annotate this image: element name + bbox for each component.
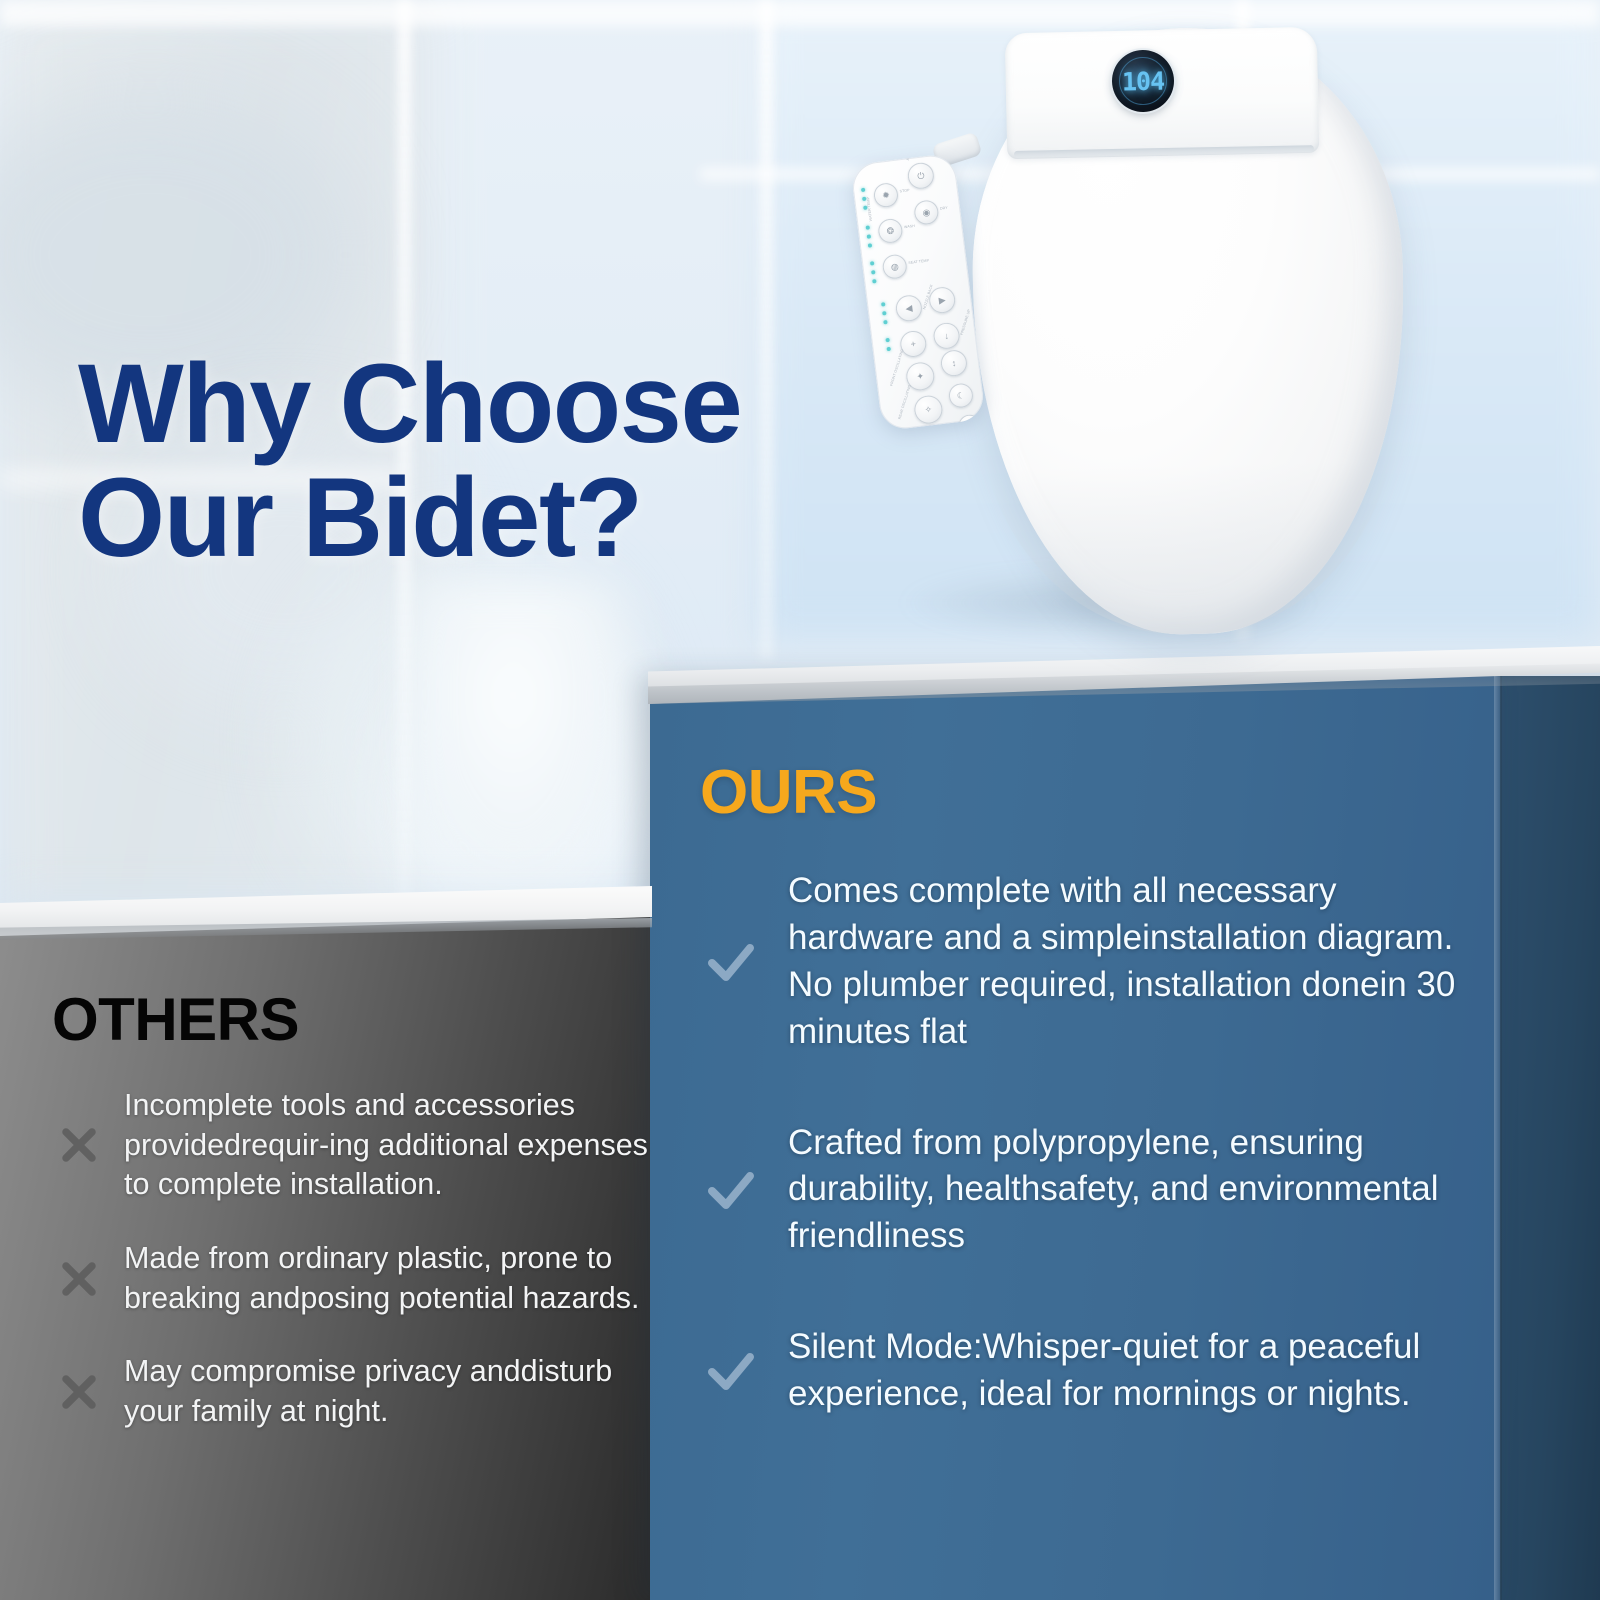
arrow-left-icon: ◀ xyxy=(894,294,923,323)
dry-icon: ◉ xyxy=(913,199,940,226)
panel-led xyxy=(861,188,865,192)
panel-led xyxy=(881,302,885,306)
power-label: POWER xyxy=(906,153,915,161)
panel-led xyxy=(872,279,876,283)
pressure-up-button[interactable]: + xyxy=(899,329,928,358)
others-item-text: May compromise privacy anddisturb your f… xyxy=(124,1352,652,1431)
check-icon xyxy=(700,931,762,993)
panel-led xyxy=(882,311,886,315)
x-icon xyxy=(52,1365,106,1419)
others-item-text: Made from ordinary plastic, prone to bre… xyxy=(124,1239,652,1318)
panel-led xyxy=(870,261,874,265)
others-item-text: Incomplete tools and accessories provide… xyxy=(124,1086,652,1205)
others-heading: OTHERS xyxy=(52,990,652,1050)
ours-heading: OURS xyxy=(700,762,1460,824)
ours-pedestal-side-face xyxy=(1500,676,1600,1600)
ours-item-text: Silent Mode:Whisper-quiet for a peaceful… xyxy=(788,1324,1460,1418)
power-icon: ⏻ xyxy=(906,161,935,190)
plus-icon: + xyxy=(899,329,928,358)
night-light-icon: ☾ xyxy=(948,382,975,409)
bidet-control-panel[interactable]: ✹ STOP ⏻ POWER ❂ WASH ◉ DRY ◍ SEAT TEMP … xyxy=(850,153,986,432)
check-icon xyxy=(700,1159,762,1221)
night-light-button[interactable]: ☾ xyxy=(948,382,975,409)
ours-item-text: Comes complete with all necessary hardwa… xyxy=(788,868,1460,1056)
uv-icon: ■ xyxy=(957,413,982,431)
panel-led xyxy=(885,338,889,342)
nozzle-back-button[interactable]: ◀ xyxy=(894,294,923,323)
ours-list-item: Comes complete with all necessary hardwa… xyxy=(700,868,1460,1056)
ours-column: OURS Comes complete with all necessary h… xyxy=(700,762,1460,1482)
page-title: Why Choose Our Bidet? xyxy=(78,347,741,575)
seat-temp-button[interactable]: ◍ xyxy=(881,253,908,280)
others-column: OTHERS Incomplete tools and accessories … xyxy=(52,990,652,1465)
bidet-product-image: 104 ✹ STOP ⏻ POWER ❂ WASH ◉ DRY ◍ SEAT xyxy=(838,8,1438,688)
panel-led xyxy=(883,320,887,324)
power-button[interactable]: ⏻ xyxy=(906,161,935,190)
x-icon xyxy=(52,1252,106,1306)
check-icon xyxy=(700,1340,762,1402)
seat-temp-label: SEAT TEMP xyxy=(908,258,929,265)
others-list-item: Incomplete tools and accessories provide… xyxy=(52,1086,652,1205)
uv-button[interactable]: ■ xyxy=(957,413,982,431)
self-clean-icon: ✸ xyxy=(923,425,954,431)
panel-led xyxy=(886,347,890,351)
stop-icon: ✹ xyxy=(873,182,900,209)
wash-button[interactable]: ❂ xyxy=(877,218,904,245)
kids-button[interactable]: ↕ xyxy=(939,349,968,378)
rear-oscillating-button[interactable]: ✧ xyxy=(913,394,944,425)
dry-button[interactable]: ◉ xyxy=(913,199,940,226)
background-window-mullion xyxy=(760,0,773,660)
others-list-item: May compromise privacy anddisturb your f… xyxy=(52,1352,652,1431)
panel-led xyxy=(868,243,872,247)
water-temp-label: WATER TEMP xyxy=(866,197,873,222)
minus-icon: ↓ xyxy=(932,321,961,350)
pressure-down-button[interactable]: ↓ xyxy=(932,321,961,350)
ours-pedestal-corner-highlight xyxy=(1494,676,1502,1600)
ours-list-item: Silent Mode:Whisper-quiet for a peaceful… xyxy=(700,1324,1460,1418)
rear-oscillating-icon: ✧ xyxy=(913,394,944,425)
wash-icon: ❂ xyxy=(877,218,904,245)
kids-icon: ↕ xyxy=(939,349,968,378)
stop-button[interactable]: ✹ xyxy=(873,182,900,209)
headline-line-1: Why Choose xyxy=(78,341,741,466)
front-oscillating-label: FRONT OSCILLATING xyxy=(889,349,904,387)
infographic-canvas: Why Choose Our Bidet? 104 ✹ STOP ⏻ POWER xyxy=(0,0,1600,1600)
panel-led xyxy=(866,225,870,229)
display-value: 104 xyxy=(1122,66,1165,96)
headline-line-2: Our Bidet? xyxy=(78,461,741,575)
background-toilet-silhouette xyxy=(410,580,640,910)
stop-label: STOP xyxy=(899,188,910,193)
wash-label: WASH xyxy=(904,224,915,229)
pressure-label: PRESSURE UP xyxy=(960,309,972,336)
ours-item-text: Crafted from polypropylene, ensuring dur… xyxy=(788,1120,1460,1261)
others-list-item: Made from ordinary plastic, prone to bre… xyxy=(52,1239,652,1318)
seat-temp-icon: ◍ xyxy=(881,253,908,280)
panel-led xyxy=(871,270,875,274)
ours-list-item: Crafted from polypropylene, ensuring dur… xyxy=(700,1120,1460,1261)
x-icon xyxy=(52,1118,106,1172)
self-clean-button[interactable]: ✸ xyxy=(923,425,954,431)
dry-label: DRY xyxy=(940,206,948,211)
rear-oscillating-label: REAR OSCILLATING xyxy=(897,384,911,420)
panel-led xyxy=(867,234,871,238)
